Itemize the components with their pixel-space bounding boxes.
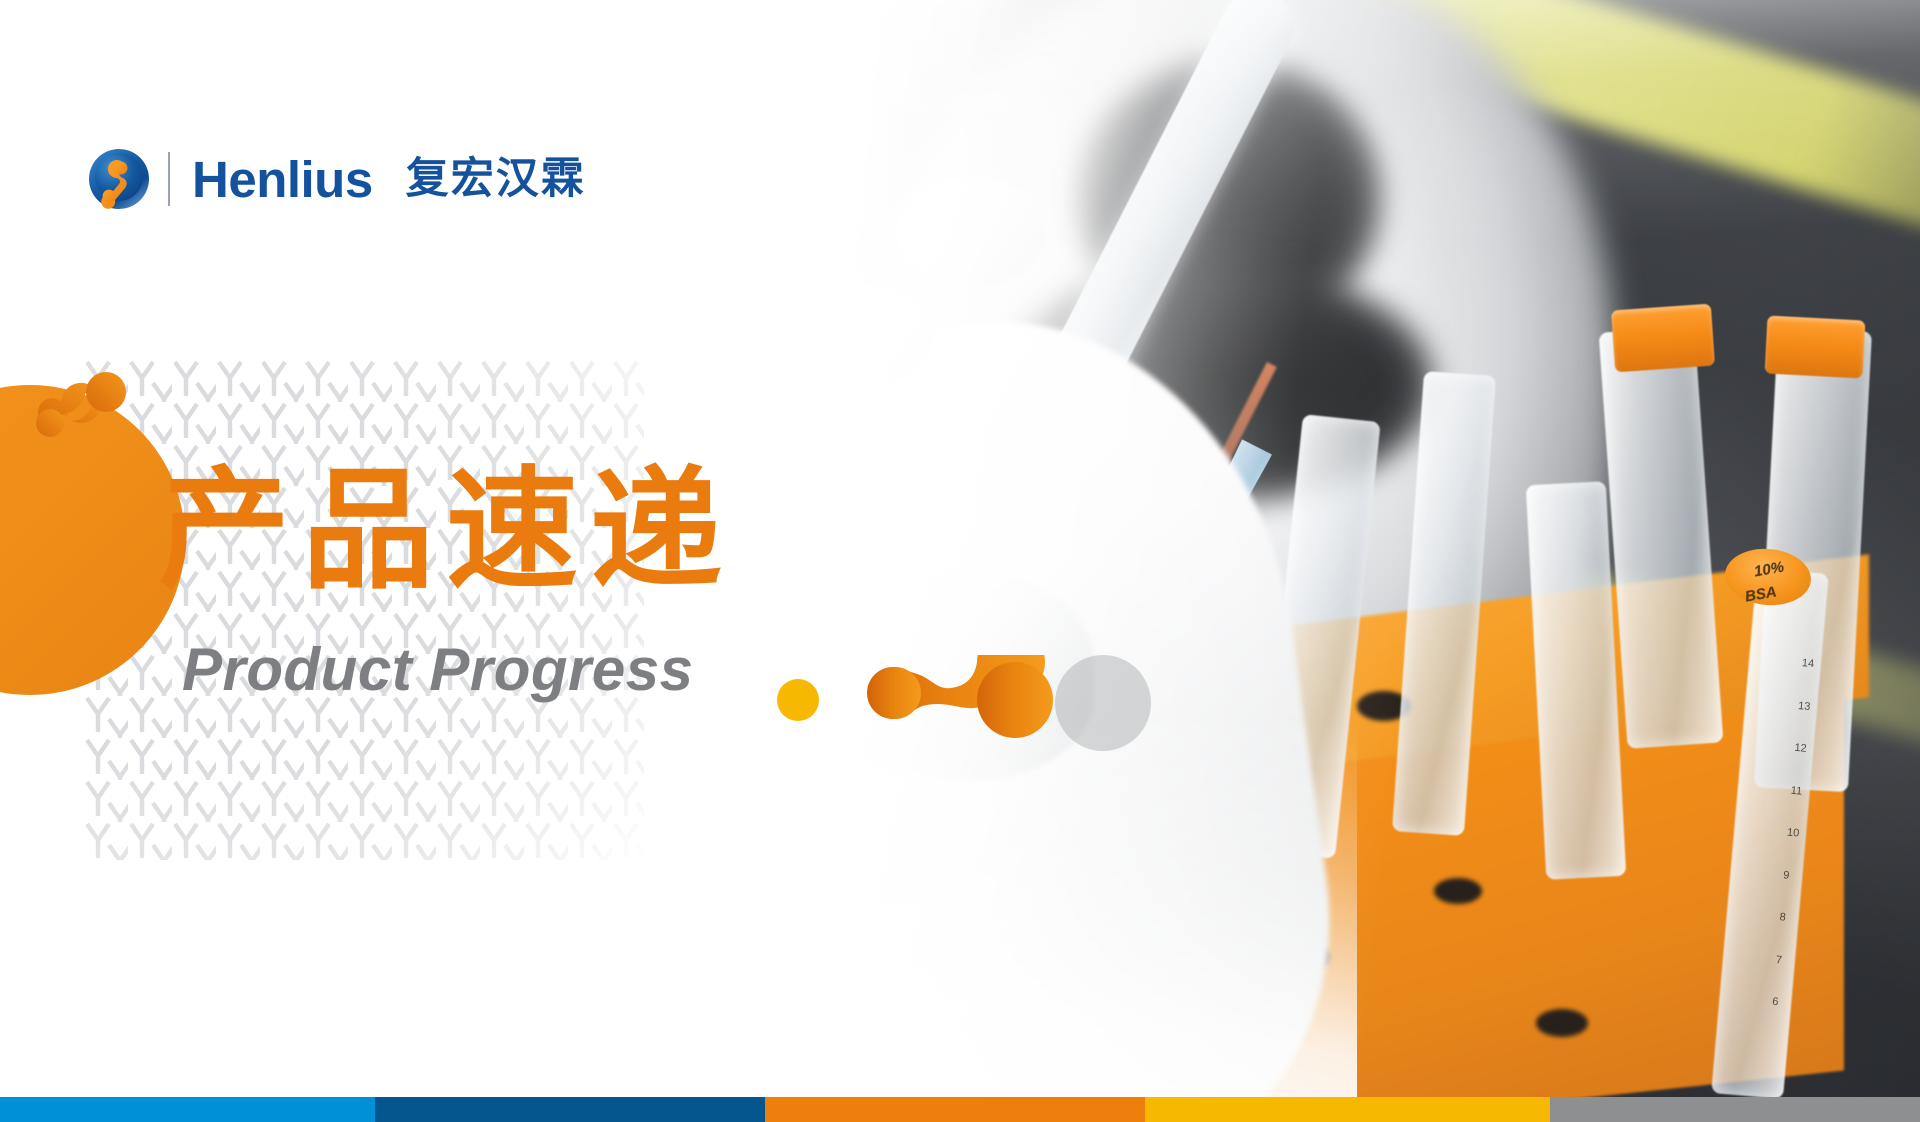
page-title-en: Product Progress bbox=[182, 640, 693, 700]
bar-segment-yellow bbox=[1145, 1097, 1550, 1122]
molecule-dumbbell-large-icon bbox=[855, 655, 1075, 745]
page-title-cn: 产品速递 bbox=[158, 465, 734, 597]
bar-segment-grey bbox=[1550, 1097, 1920, 1122]
bar-segment-orange bbox=[765, 1097, 1145, 1122]
photo-bottom-fade bbox=[640, 724, 1357, 1097]
henlius-circle-molecule-logo-icon bbox=[88, 148, 150, 210]
logo-name-en: Henlius bbox=[192, 154, 373, 205]
logo-divider-icon bbox=[168, 152, 170, 206]
bar-segment-dark-blue bbox=[375, 1097, 765, 1122]
yellow-dot-icon bbox=[777, 679, 819, 721]
brand-logo[interactable]: Henlius 复宏汉霖 bbox=[88, 148, 586, 210]
logo-name-cn: 复宏汉霖 bbox=[406, 158, 586, 201]
molecule-dumbbell-small-icon bbox=[28, 368, 136, 454]
grey-dot-icon bbox=[1055, 655, 1151, 751]
bottom-color-bar bbox=[0, 1097, 1920, 1122]
laboratory-photo: 10% BSA 14 13 12 11 10 9 8 7 6 bbox=[640, 0, 1920, 1097]
bar-segment-light-blue bbox=[0, 1097, 375, 1122]
slide-root: 10% BSA 14 13 12 11 10 9 8 7 6 bbox=[0, 0, 1920, 1122]
